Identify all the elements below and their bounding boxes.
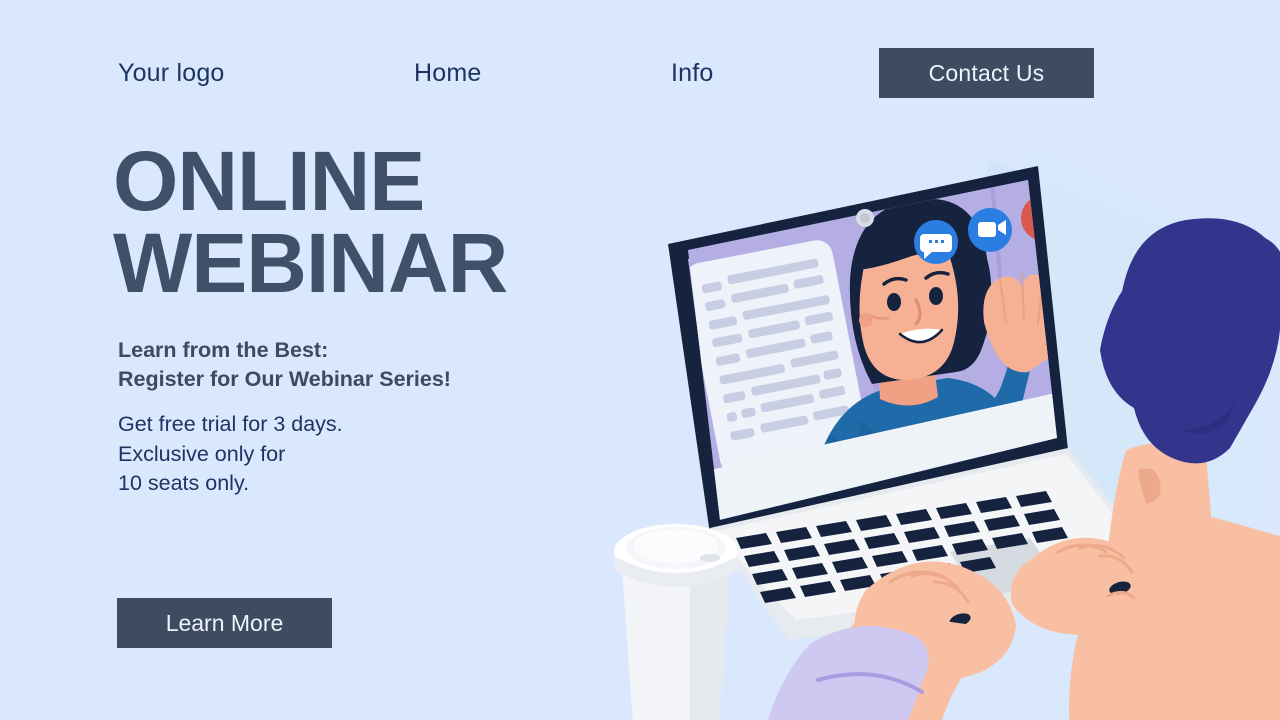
- sip-hole: [700, 554, 720, 562]
- top-navigation: Your logo Home Info Contact Us: [0, 48, 1280, 98]
- webinar-landing-page: Your logo Home Info Contact Us ONLINE WE…: [0, 0, 1280, 720]
- webinar-illustration: [560, 120, 1280, 720]
- video-call-button[interactable]: [968, 208, 1012, 252]
- nav-link-info[interactable]: Info: [671, 48, 714, 98]
- coffee-cup: [614, 524, 738, 720]
- nav-link-home[interactable]: Home: [414, 48, 482, 98]
- chat-call-button[interactable]: [914, 220, 958, 264]
- site-logo[interactable]: Your logo: [118, 48, 225, 98]
- headline-line-1: ONLINE: [113, 134, 424, 228]
- learn-more-button[interactable]: Learn More: [117, 598, 332, 648]
- contact-us-button[interactable]: Contact Us: [879, 48, 1094, 98]
